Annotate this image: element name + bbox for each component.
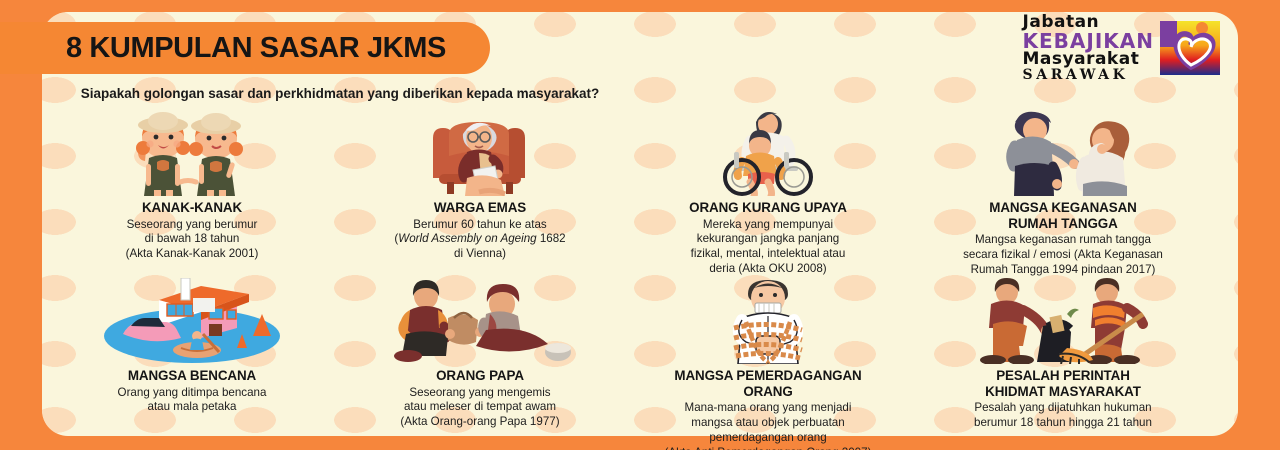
card-description: Berumur 60 tahun ke atas (World Assembly… [340, 218, 620, 262]
card-warga-emas: WARGA EMAS Berumur 60 tahun ke atas (Wor… [340, 104, 620, 262]
card-description: Mana-mana orang yang menjadi mangsa atau… [632, 401, 904, 450]
card-title: ORANG KURANG UPAYA [632, 200, 904, 216]
card-title: WARGA EMAS [340, 200, 620, 216]
card-kanak-kanak: KANAK-KANAK Seseorang yang berumur di ba… [58, 104, 326, 262]
card-orang-kurang-upaya: ORANG KURANG UPAYA Mereka yang mempunyai… [632, 104, 904, 277]
elderly-woman-in-armchair-illustration [340, 104, 620, 196]
card-description: Mangsa keganasan rumah tangga secara fiz… [918, 233, 1208, 277]
card-mangsa-bencana: MANGSA BENCANA Orang yang ditimpa bencan… [58, 272, 326, 415]
card-description: Mereka yang mempunyai kekurangan jangka … [632, 218, 904, 277]
card-title: MANGSA BENCANA [58, 368, 326, 384]
logo-wordmark: Jabatan KEBAJIKAN Masyarakat SARAWAK [1023, 14, 1154, 82]
card-description: Seseorang yang mengemis atau meleser di … [340, 386, 620, 430]
two-children-illustration [58, 104, 326, 196]
card-description: Orang yang ditimpa bencana atau mala pet… [58, 386, 326, 416]
bound-trafficking-victim-illustration [632, 272, 904, 364]
domestic-violence-illustration [918, 104, 1208, 196]
community-service-workers-illustration [918, 272, 1208, 364]
card-mangsa-keganasan-rumah-tangga: MANGSA KEGANASAN RUMAH TANGGA Mangsa keg… [918, 104, 1208, 278]
card-title: ORANG PAPA [340, 368, 620, 384]
page-title: 8 KUMPULAN SASAR JKMS [66, 32, 446, 65]
card-title: MANGSA KEGANASAN RUMAH TANGGA [918, 200, 1208, 231]
card-description: Seseorang yang berumur di bawah 18 tahun… [58, 218, 326, 262]
card-title: PESALAH PERINTAH KHIDMAT MASYARAKAT [918, 368, 1208, 399]
logo-line-masyarakat: Masyarakat [1023, 51, 1154, 68]
logo-line-kebajikan: KEBAJIKAN [1023, 31, 1154, 51]
title-banner: 8 KUMPULAN SASAR JKMS [0, 22, 490, 74]
card-description: Pesalah yang dijatuhkan hukuman berumur … [918, 401, 1208, 431]
card-orang-papa: ORANG PAPA Seseorang yang mengemis atau … [340, 272, 620, 430]
card-mangsa-pemerdagangan-orang: MANGSA PEMERDAGANGAN ORANG Mana-mana ora… [632, 272, 904, 450]
logo-line-sarawak: SARAWAK [1023, 68, 1154, 82]
wheelchair-user-with-carer-illustration [632, 104, 904, 196]
card-title: MANGSA PEMERDAGANGAN ORANG [632, 368, 904, 399]
flooded-house-illustration [58, 272, 326, 364]
card-pesalah-perintah-khidmat-masyarakat: PESALAH PERINTAH KHIDMAT MASYARAKAT Pesa… [918, 272, 1208, 431]
jkms-heart-logo-icon [1158, 19, 1222, 77]
card-title: KANAK-KANAK [58, 200, 326, 216]
subtitle: Siapakah golongan sasar dan perkhidmatan… [70, 84, 610, 103]
jkms-logo: Jabatan KEBAJIKAN Masyarakat SARAWAK [1023, 14, 1222, 82]
giving-aid-to-homeless-illustration [340, 272, 620, 364]
